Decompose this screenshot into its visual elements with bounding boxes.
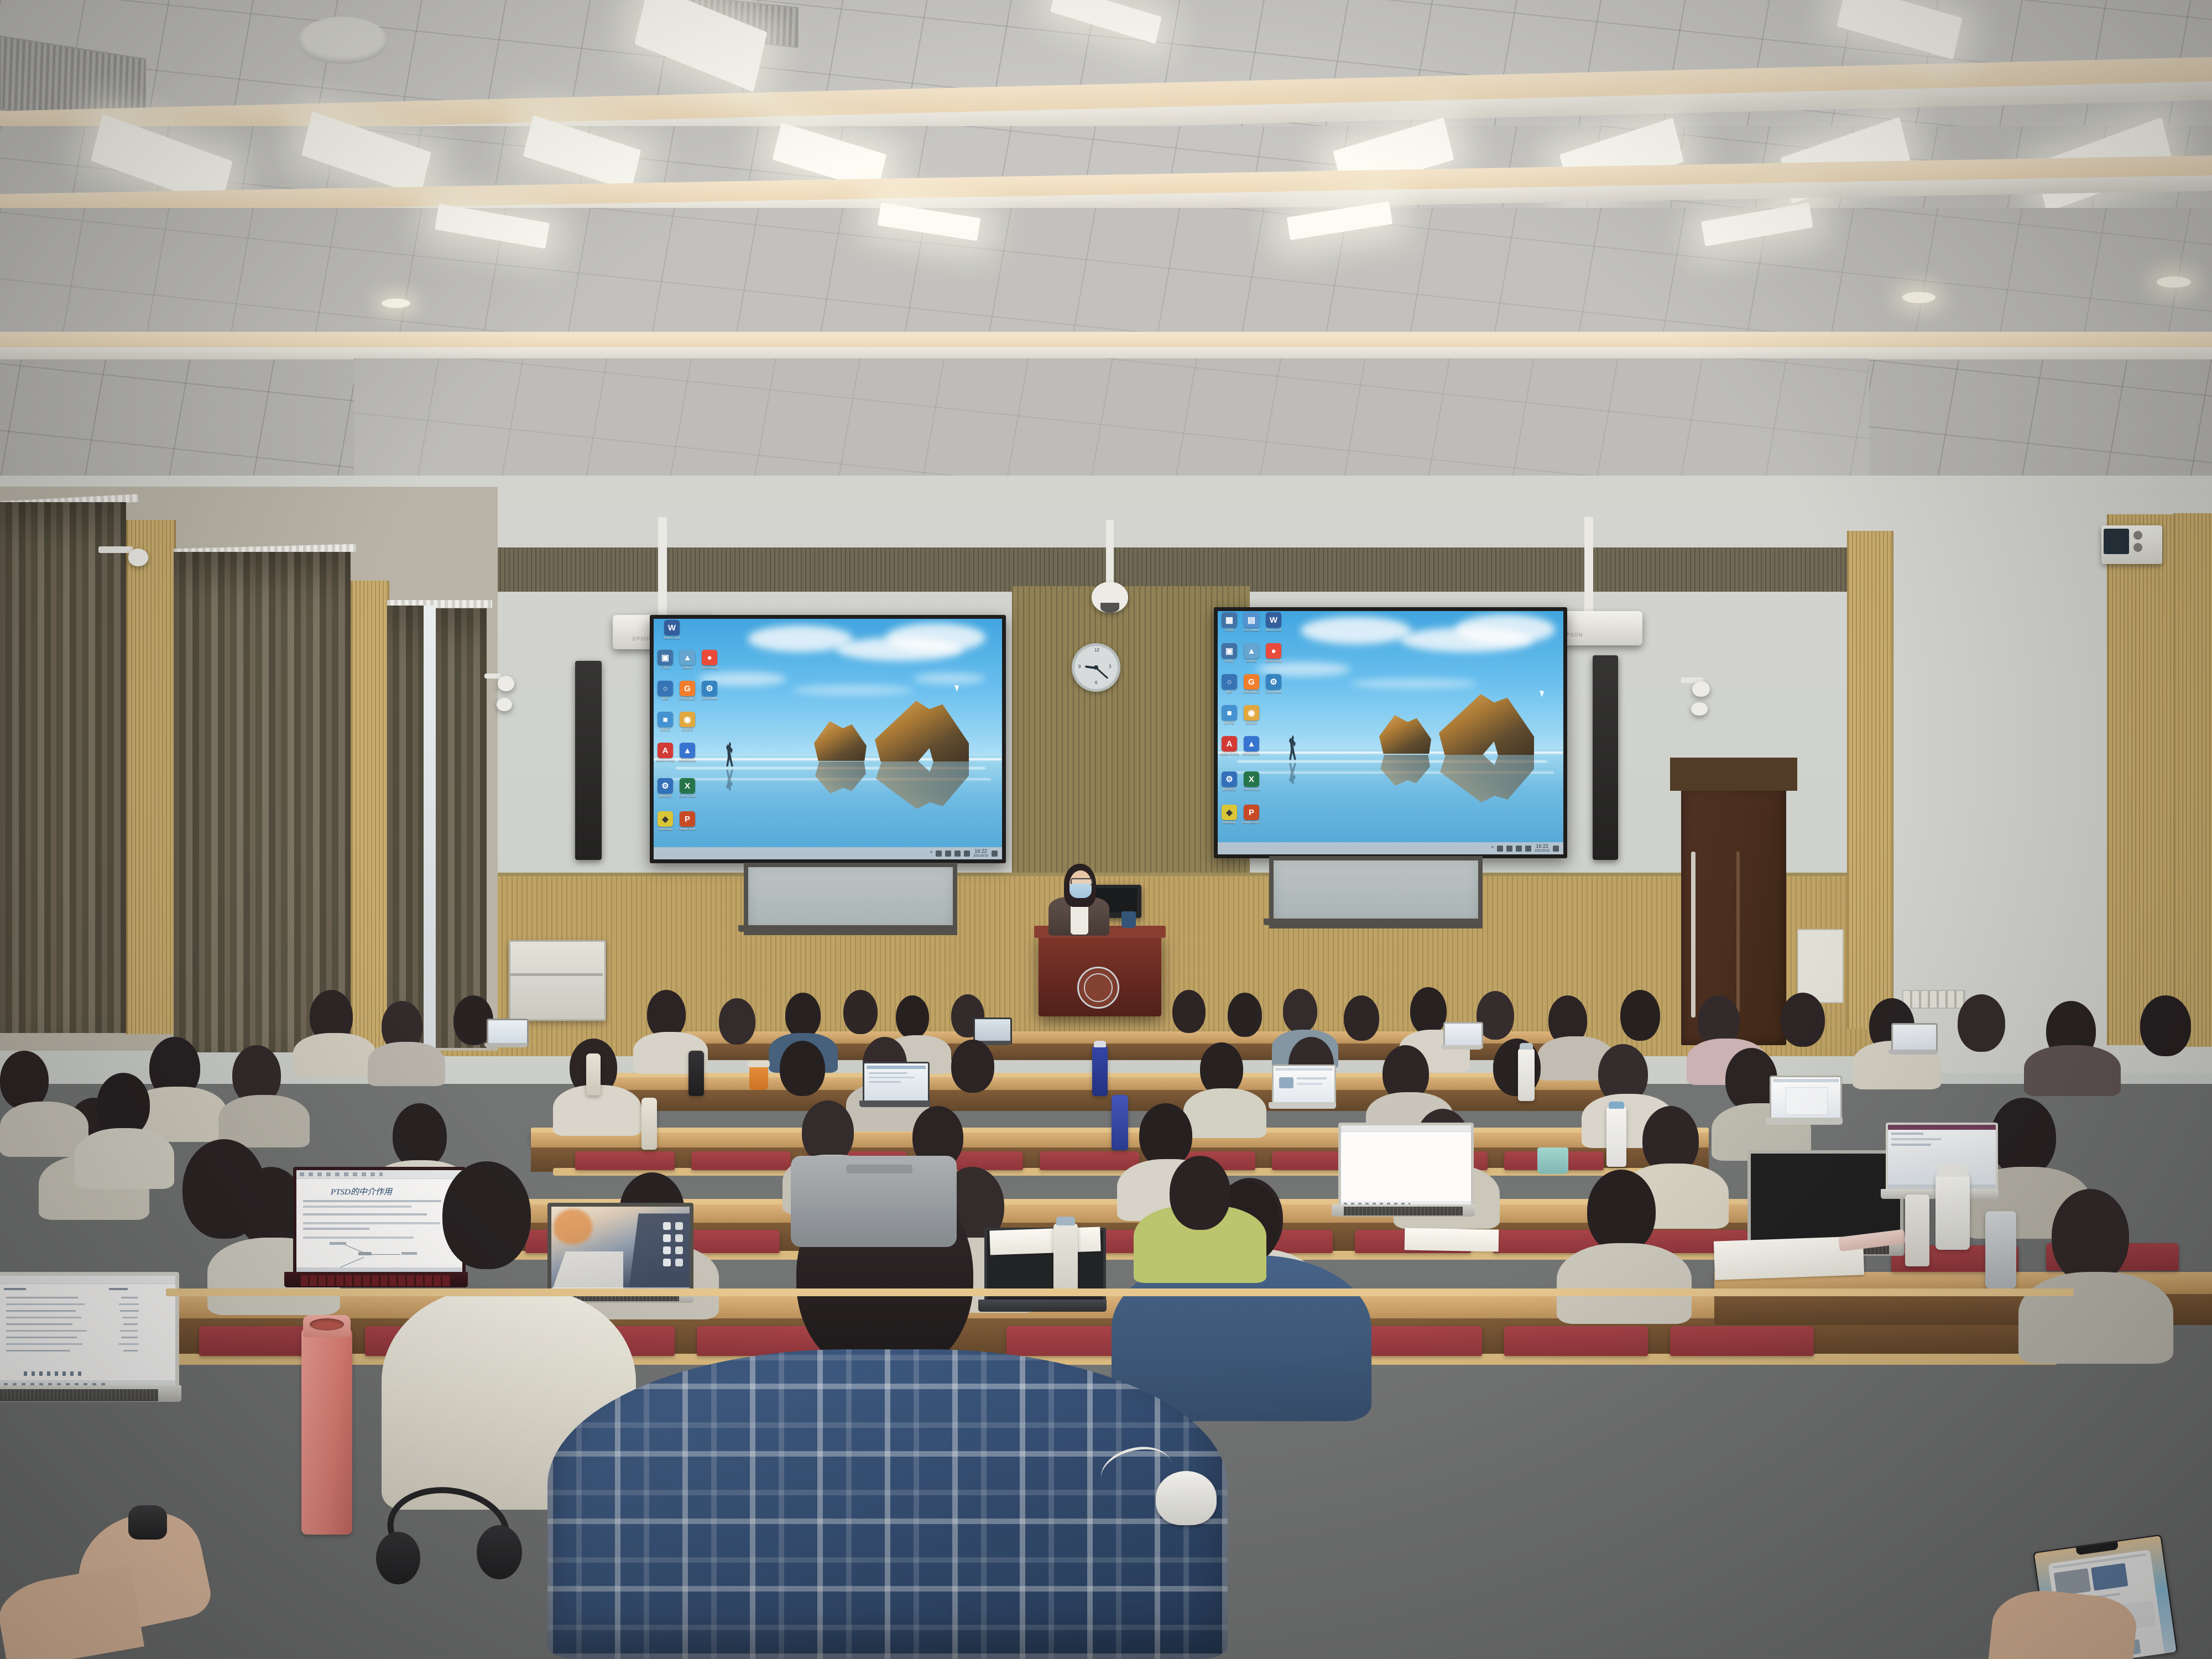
mouse-cursor-icon xyxy=(1540,689,1546,697)
desktop-icon[interactable]: ⚙ CAJViewer xyxy=(700,681,719,701)
student-head xyxy=(1139,1103,1192,1167)
water-bottle[interactable] xyxy=(1518,1048,1535,1101)
headphone-earcup xyxy=(376,1532,420,1584)
volume-icon[interactable] xyxy=(945,851,951,857)
desktop-icon[interactable]: P PowerPoint 2016 xyxy=(1242,805,1261,825)
thermos-cap-ring xyxy=(310,1318,344,1331)
network-icon[interactable] xyxy=(936,851,942,857)
water-bottle[interactable] xyxy=(641,1098,657,1150)
recessed-downlight xyxy=(382,299,410,308)
whiteboard-left[interactable] xyxy=(744,863,957,935)
water-bottle[interactable] xyxy=(1053,1223,1078,1294)
desktop-icon[interactable]: ▤ CAJViewer xyxy=(1242,612,1261,633)
student-head xyxy=(1172,990,1206,1033)
student-head xyxy=(647,990,686,1039)
ptz-camera-icon xyxy=(497,698,512,711)
thermos-flask[interactable] xyxy=(688,1051,704,1096)
laptop[interactable] xyxy=(1770,1076,1839,1128)
desktop-icon[interactable]: ■ 爱奇艺 xyxy=(1220,705,1239,726)
student-head xyxy=(1991,1098,2056,1176)
water-bottle[interactable] xyxy=(586,1053,601,1095)
wall-speaker-left xyxy=(575,661,602,860)
desktop-icon[interactable]: ▣ 计算机 xyxy=(656,650,675,670)
lecture-hall-photo: 12 3 6 9 EPSON EPSON xyxy=(0,0,2212,1659)
desktop-icon[interactable]: ▲ 回收站 xyxy=(1242,643,1261,664)
student-head xyxy=(2052,1189,2129,1283)
laptop-doc-title: PTSD的中介作用 xyxy=(331,1186,392,1197)
cabinet-shelf xyxy=(509,973,603,976)
student-head xyxy=(1781,993,1825,1047)
laptop[interactable] xyxy=(1443,1022,1480,1051)
lectern[interactable] xyxy=(1039,933,1161,1016)
seat-cushion[interactable] xyxy=(1670,1326,1814,1356)
student-body xyxy=(1557,1243,1692,1324)
desktop-icon[interactable]: ▲ 回收站 xyxy=(678,650,697,670)
paper-cup[interactable] xyxy=(749,1065,768,1090)
student-head xyxy=(182,1139,265,1239)
ime-icon[interactable] xyxy=(954,851,961,857)
desktop-icon[interactable]: ○ 搜狗 xyxy=(1220,674,1239,695)
onedrive-icon[interactable] xyxy=(1525,846,1531,852)
student-head xyxy=(0,1051,49,1109)
student-head xyxy=(1620,990,1660,1041)
desktop-icon[interactable]: ◆ Mathway xyxy=(656,811,675,832)
thermos-flask[interactable] xyxy=(1985,1211,2016,1288)
laptop-screen xyxy=(1341,1125,1471,1207)
laptop-list[interactable] xyxy=(0,1272,171,1416)
window-curtain xyxy=(174,552,351,1052)
equipment-cabinet[interactable] xyxy=(509,940,606,1021)
desktop-icon[interactable]: A Adobe Acrobat xyxy=(1220,736,1239,757)
action-center-icon[interactable] xyxy=(1553,846,1559,852)
camera-lens-icon xyxy=(1100,603,1119,613)
recessed-downlight xyxy=(1902,292,1936,303)
left-projection-screen[interactable]: W Word 2016 ▣ 计算机 ▲ 回收站 ● 谷歌浏览器 ○ 搜狗 G 2… xyxy=(650,615,1006,863)
desktop-icon[interactable]: ◆ Mathway xyxy=(1220,805,1239,825)
camera-mount-pole xyxy=(1106,520,1114,586)
window-curtain xyxy=(0,502,126,1033)
student-head xyxy=(843,990,878,1034)
ceiling xyxy=(0,0,2212,498)
laptop[interactable] xyxy=(487,1019,525,1048)
ptz-camera-icon xyxy=(128,549,148,566)
backpack-strap xyxy=(846,1165,912,1173)
thermos-flask[interactable] xyxy=(1936,1172,1970,1250)
window-curtain xyxy=(387,606,424,1048)
desktop-icon[interactable]: ⚙ CAJViewer xyxy=(1264,674,1283,695)
mug[interactable] xyxy=(1537,1147,1568,1174)
student-head xyxy=(780,1041,825,1096)
student-body xyxy=(293,1033,376,1077)
student-body xyxy=(368,1042,445,1086)
desktop-icon[interactable]: ● 谷歌浏览器 xyxy=(700,650,719,670)
student-body xyxy=(218,1095,310,1147)
student-head xyxy=(1410,987,1447,1035)
laptop[interactable] xyxy=(1272,1065,1333,1111)
student-head xyxy=(1587,1170,1656,1253)
desktop-icon[interactable]: ▦ 计算机 xyxy=(1220,612,1239,633)
desktop-icon[interactable]: ▣ 计算机 xyxy=(1220,643,1239,664)
desktop-icon[interactable]: ⚙ 暴风影音 xyxy=(656,778,675,799)
desktop-icon[interactable]: ◉ QQ音乐 xyxy=(678,712,697,732)
black-mouse[interactable] xyxy=(128,1505,167,1540)
chevron-up-icon[interactable]: ^ xyxy=(1491,846,1494,852)
taskbar[interactable]: ^ 16:22 2021/5/10 xyxy=(654,847,1002,859)
wainscot-joint xyxy=(387,873,1880,876)
desktop-icon[interactable]: A Adobe Acrobat xyxy=(656,743,675,763)
laptop[interactable] xyxy=(863,1062,926,1109)
notebook-page[interactable] xyxy=(989,1227,1100,1255)
wall-slat-panel xyxy=(1847,531,1893,1029)
desktop-icon[interactable]: ◉ QQ音乐 xyxy=(1242,705,1261,726)
smoke-detector-icon xyxy=(299,17,387,64)
forearm xyxy=(0,1564,144,1659)
pink-thermos[interactable] xyxy=(301,1327,352,1535)
student-head xyxy=(1344,995,1379,1041)
ptz-camera-icon xyxy=(1692,681,1710,697)
student-head xyxy=(785,993,821,1038)
student-head xyxy=(1283,989,1317,1033)
student-head xyxy=(951,1040,994,1093)
desktop-icon[interactable]: ○ 搜狗 xyxy=(656,681,675,701)
student-head xyxy=(393,1103,447,1168)
power-outlet-strip[interactable] xyxy=(1902,990,1965,1009)
water-bottle[interactable] xyxy=(1606,1106,1626,1167)
student-body xyxy=(0,1102,88,1157)
student-head xyxy=(1958,994,2005,1052)
student-head xyxy=(97,1073,150,1137)
student-head xyxy=(802,1100,854,1164)
action-center-icon[interactable] xyxy=(992,851,998,857)
projector-mount-pole xyxy=(1584,517,1593,615)
student-body xyxy=(75,1128,174,1189)
recessed-downlight xyxy=(2157,276,2191,288)
student-head xyxy=(442,1161,531,1269)
desktop-icon[interactable]: W Word 2016 xyxy=(1264,612,1283,633)
cup-lid xyxy=(748,1061,770,1067)
wallpaper-rock-small xyxy=(1379,715,1431,754)
desktop-icon[interactable]: G 2345看图王 xyxy=(678,681,697,701)
laptop-screen xyxy=(551,1207,690,1292)
presenter xyxy=(1045,852,1117,935)
seat-cushion[interactable] xyxy=(691,1151,791,1170)
desktop-icon[interactable]: ● 谷歌浏览器 xyxy=(1264,643,1283,664)
student-head xyxy=(719,998,755,1045)
ptz-camera-icon xyxy=(1691,702,1708,716)
wall-speaker-right xyxy=(1593,655,1618,860)
laptop[interactable] xyxy=(1891,1023,1934,1055)
chevron-up-icon[interactable]: ^ xyxy=(930,851,933,857)
laptop-screen xyxy=(0,1276,175,1389)
student-body xyxy=(2024,1045,2121,1096)
student-head xyxy=(896,995,929,1039)
wallpaper-rock-large xyxy=(1439,694,1534,755)
door-frame-upper xyxy=(1670,758,1797,791)
wall-slat-panel xyxy=(126,520,176,1034)
student-head xyxy=(2140,995,2191,1056)
headphone-earcup xyxy=(477,1525,522,1579)
desktop-icon[interactable]: ■ 爱奇艺 xyxy=(656,712,675,732)
student-body xyxy=(2018,1272,2173,1364)
seat-cushion[interactable] xyxy=(575,1151,675,1170)
camera-arm xyxy=(98,546,133,553)
wall-slat-panel xyxy=(2107,514,2176,1045)
right-projection-screen[interactable]: ▦ 计算机 ▤ CAJViewer W Word 2016 ▣ 计算机 ▲ 回收… xyxy=(1214,607,1567,858)
laptop-screen xyxy=(1751,1154,1900,1245)
onedrive-icon[interactable] xyxy=(964,851,970,857)
seat-cushion[interactable] xyxy=(1504,1326,1648,1356)
wallpaper-rock-large xyxy=(875,701,969,761)
camera-arm xyxy=(484,674,501,679)
water-cup xyxy=(1121,911,1136,928)
wallpaper-rock-small xyxy=(814,721,867,761)
wall-slat-panel xyxy=(2173,513,2212,1047)
whiteboard-right[interactable] xyxy=(1269,856,1483,928)
ime-icon[interactable] xyxy=(1516,846,1522,852)
wall-slat-panel xyxy=(351,581,389,1056)
ptz-camera-icon xyxy=(498,676,514,691)
taskbar-clock[interactable]: 16:22 2021/5/10 xyxy=(1535,844,1550,853)
laptop-screen: PTSD的中介作用 xyxy=(296,1170,462,1275)
wall-access-panel xyxy=(1797,929,1844,1003)
laptop[interactable] xyxy=(1338,1123,1468,1221)
desktop-icon[interactable]: ▲ MindMaster xyxy=(678,743,697,763)
desktop-icon[interactable]: P PowerPoint 2016 xyxy=(678,811,697,832)
window-gap-light xyxy=(424,606,436,1048)
network-icon[interactable] xyxy=(1497,846,1503,852)
volume-icon[interactable] xyxy=(1506,846,1512,852)
laptop-ptsd[interactable]: PTSD的中介作用 xyxy=(293,1167,459,1294)
student-head xyxy=(1200,1042,1243,1095)
water-bottle[interactable] xyxy=(1905,1194,1929,1266)
desktop-icon[interactable]: G 2345看图王 xyxy=(1242,674,1261,695)
projector-mount-pole xyxy=(658,517,667,619)
wall-camera-icon[interactable] xyxy=(2101,525,2162,564)
seat-cushion[interactable] xyxy=(1040,1151,1139,1170)
mouse-cursor-icon xyxy=(954,684,961,692)
water-bottle[interactable] xyxy=(1092,1045,1108,1096)
desktop-icon[interactable]: ▲ MindMaster xyxy=(1242,736,1261,757)
student-head xyxy=(1170,1156,1230,1230)
desktop-icon[interactable]: X Excel 2016 xyxy=(678,778,697,799)
desktop-icon[interactable]: ⚙ 暴风影音 xyxy=(1220,771,1239,792)
student-body xyxy=(1183,1088,1266,1138)
desktop-icon[interactable]: W Word 2016 xyxy=(662,620,681,640)
desktop-icon[interactable]: X Excel 2016 xyxy=(1242,771,1261,792)
foreground-person-torso xyxy=(547,1349,1228,1659)
notebook-page[interactable] xyxy=(1405,1228,1499,1252)
university-seal xyxy=(1077,967,1119,1009)
student-head xyxy=(1228,993,1262,1037)
window-curtain xyxy=(436,608,487,1048)
water-bottle[interactable] xyxy=(1112,1095,1128,1150)
wall-clock: 12 3 6 9 xyxy=(1072,643,1120,692)
face-mask-icon xyxy=(1070,884,1092,898)
taskbar[interactable]: ^ 16:22 2021/5/10 xyxy=(1218,842,1563,854)
taskbar-clock[interactable]: 16:22 2021/5/10 xyxy=(973,849,988,858)
